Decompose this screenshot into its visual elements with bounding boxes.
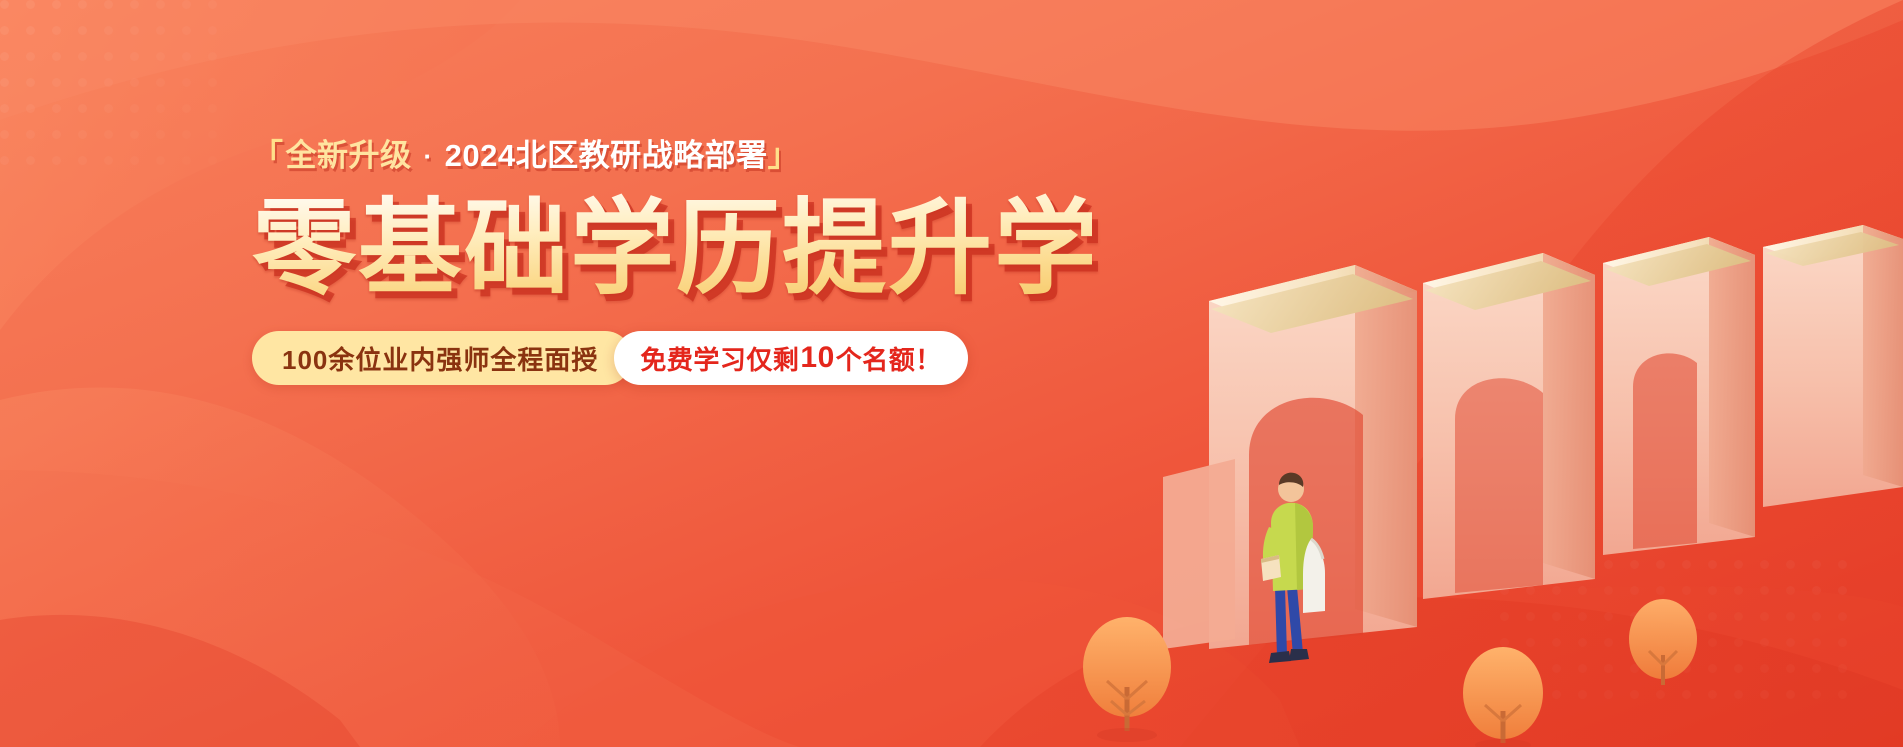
promo-banner: 「 全新升级 · 2024北区教研战略部署 」 零基础学历提升学霸班 100余位… [0,0,1903,747]
eyebrow-highlight: 全新升级 [286,140,412,171]
book-arch-3 [1603,237,1755,555]
banner-eyebrow: 「 全新升级 · 2024北区教研战略部署 」 [252,140,1092,171]
pill-teachers-label: 100余位业内强师全程面授 [282,340,598,377]
pill-teachers[interactable]: 100余位业内强师全程面授 [252,331,632,385]
pill-seats-number: 10 [799,341,835,375]
pill-seats-prefix: 免费学习仅剩 [640,340,799,377]
dot-pattern-top-left [0,0,234,182]
eyebrow-rest: 2024北区教研战略部署 [445,140,768,171]
eyebrow-separator: · [424,143,433,169]
book-arch-2 [1423,253,1595,599]
bracket-open: 「 [252,140,284,171]
pill-seats-suffix: 个名额！ [836,340,942,377]
bracket-close: 」 [768,140,800,171]
book-arch-4 [1763,225,1903,507]
cta-pill-row: 100余位业内强师全程面授 免费学习仅剩10个名额！ [252,331,968,385]
banner-copy: 「 全新升级 · 2024北区教研战略部署 」 零基础学历提升学霸班 100余位… [252,140,1092,385]
pill-seats-remaining[interactable]: 免费学习仅剩10个名额！ [614,331,967,385]
page-title: 零基础学历提升学霸班 [252,193,1092,305]
